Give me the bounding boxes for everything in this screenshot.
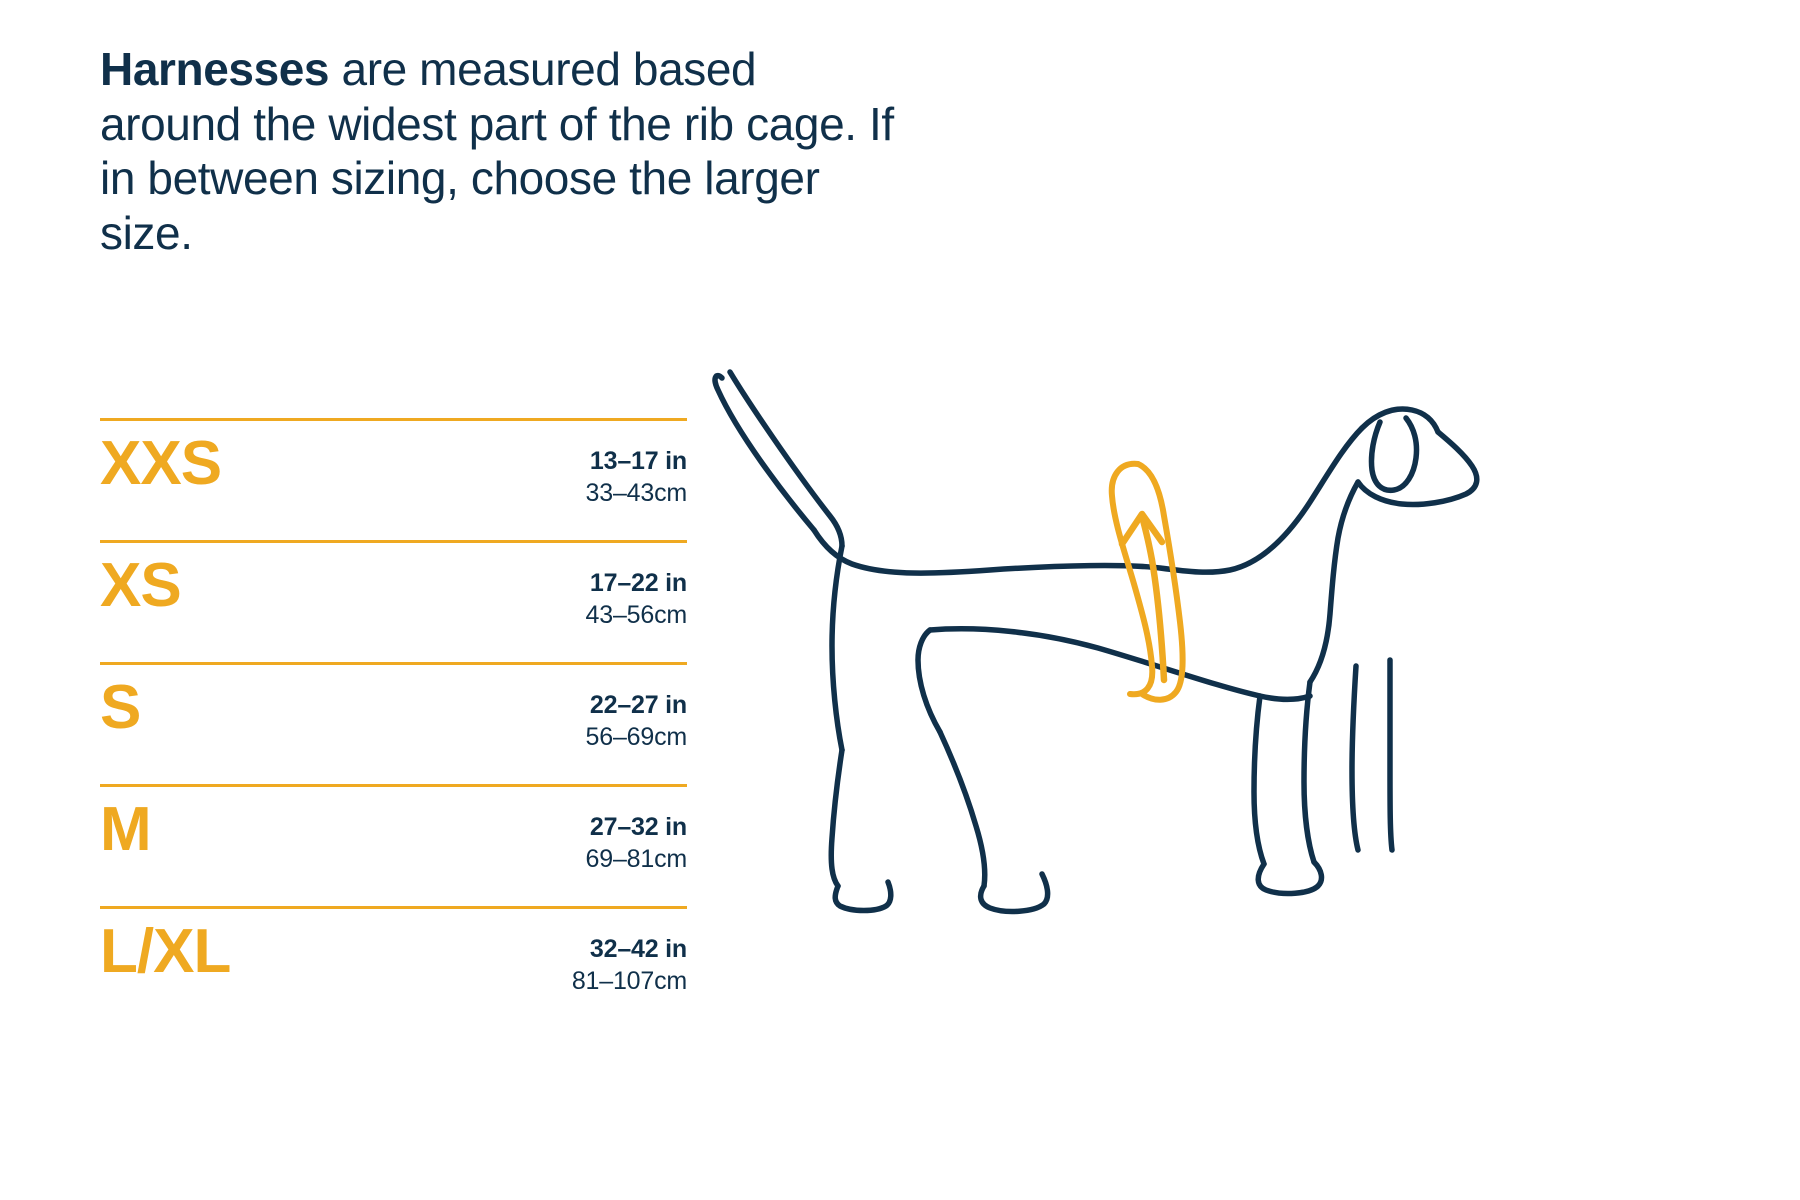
dog-illustration [690, 330, 1480, 940]
dog-tail-upper [715, 376, 814, 530]
size-label: L/XL [100, 919, 230, 984]
dog-rear-leg-front-lower [940, 732, 985, 886]
size-measurements: 32–42 in 81–107cm [572, 933, 687, 997]
dog-front-leg-far-front [1390, 660, 1392, 850]
size-label: XXS [100, 431, 221, 496]
size-row-xs: XS 17–22 in 43–56cm [100, 540, 687, 662]
measurement-cm: 33–43cm [586, 477, 687, 509]
dog-front-paw-near [1258, 862, 1321, 893]
dog-front-leg-far-back [1352, 666, 1358, 850]
dog-head-top [1362, 409, 1438, 432]
measurement-inches: 27–32 in [586, 811, 687, 843]
size-chart-table: XXS 13–17 in 33–43cm XS 17–22 in 43–56cm… [100, 418, 687, 1018]
size-row-lxl: L/XL 32–42 in 81–107cm [100, 906, 687, 1018]
measurement-cm: 43–56cm [586, 599, 687, 631]
size-guide-page: Harnesses are measured based around the … [0, 0, 1800, 1200]
size-measurements: 27–32 in 69–81cm [586, 811, 687, 875]
dog-outline-icon [690, 330, 1480, 940]
measurement-cm: 81–107cm [572, 965, 687, 997]
dog-rear-paw-back [835, 882, 891, 911]
intro-lead-word: Harnesses [100, 43, 329, 95]
size-measurements: 17–22 in 43–56cm [586, 567, 687, 631]
dog-front-leg-near-front [1254, 696, 1264, 864]
measurement-inches: 13–17 in [586, 445, 687, 477]
measurement-cm: 56–69cm [586, 721, 687, 753]
dog-rear-leg-front [918, 630, 940, 732]
measurement-inches: 17–22 in [586, 567, 687, 599]
dog-rear-paw-front [981, 874, 1048, 911]
measurement-inches: 22–27 in [586, 689, 687, 721]
size-label: XS [100, 553, 181, 618]
measurement-cm: 69–81cm [586, 843, 687, 875]
size-row-xxs: XXS 13–17 in 33–43cm [100, 418, 687, 540]
dog-back-topline [814, 428, 1362, 573]
dog-rear-thigh-front [832, 546, 842, 750]
dog-ear [1371, 418, 1416, 490]
size-label: S [100, 675, 140, 740]
size-row-m: M 27–32 in 69–81cm [100, 784, 687, 906]
dog-rear-leg-back-upper [831, 750, 842, 886]
dog-chest-front [1310, 482, 1358, 682]
size-row-s: S 22–27 in 56–69cm [100, 662, 687, 784]
size-measurements: 13–17 in 33–43cm [586, 445, 687, 509]
size-label: M [100, 797, 151, 862]
size-measurements: 22–27 in 56–69cm [586, 689, 687, 753]
dog-tail-lower [730, 372, 842, 546]
measurement-inches: 32–42 in [572, 933, 687, 965]
dog-front-leg-near-back [1304, 682, 1314, 862]
dog-belly-line [930, 629, 1310, 700]
intro-paragraph: Harnesses are measured based around the … [100, 42, 900, 261]
